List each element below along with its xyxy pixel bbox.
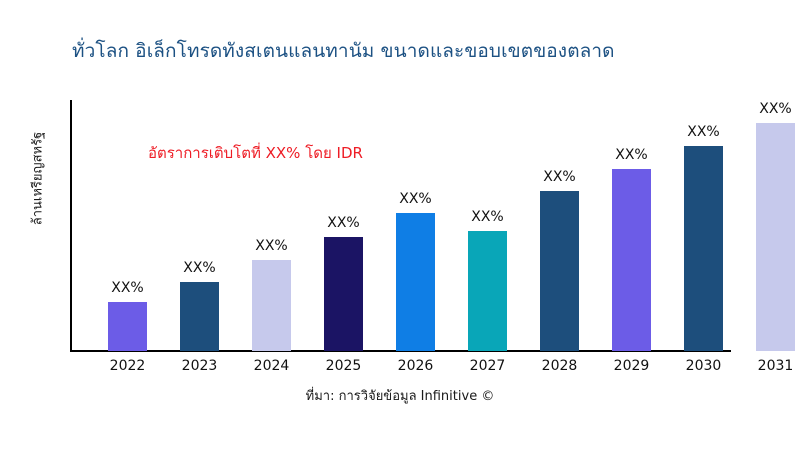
x-tick-label-2030: 2030 xyxy=(669,358,739,374)
x-tick-label-2028: 2028 xyxy=(525,358,595,374)
x-tick-label-2023: 2023 xyxy=(165,358,235,374)
bar-2029[interactable] xyxy=(612,169,651,351)
chart-container: ทั่วโลก อิเล็กโทรดทังสเตนแลนทานัม ขนาดแล… xyxy=(0,0,800,450)
bar-2028[interactable] xyxy=(540,191,579,351)
bar-value-label-2026: XX% xyxy=(381,191,451,207)
x-tick-label-2026: 2026 xyxy=(381,358,451,374)
x-tick-label-2022: 2022 xyxy=(93,358,163,374)
bar-2030[interactable] xyxy=(684,146,723,351)
x-tick-label-2029: 2029 xyxy=(597,358,667,374)
bar-2022[interactable] xyxy=(108,302,147,351)
bar-2026[interactable] xyxy=(396,213,435,351)
source-note: ที่มา: การวิจัยข้อมูล Infinitive © xyxy=(0,385,800,406)
bar-2025[interactable] xyxy=(324,237,363,351)
bar-2027[interactable] xyxy=(468,231,507,351)
x-tick-label-2025: 2025 xyxy=(309,358,379,374)
plot-area: XX%2022XX%2023XX%2024XX%2025XX%2026XX%20… xyxy=(0,0,800,450)
bar-value-label-2030: XX% xyxy=(669,124,739,140)
bar-2031[interactable] xyxy=(756,123,795,351)
x-tick-label-2024: 2024 xyxy=(237,358,307,374)
x-tick-label-2027: 2027 xyxy=(453,358,523,374)
bar-2024[interactable] xyxy=(252,260,291,351)
bar-value-label-2029: XX% xyxy=(597,147,667,163)
bar-value-label-2024: XX% xyxy=(237,238,307,254)
bar-value-label-2028: XX% xyxy=(525,169,595,185)
bar-value-label-2027: XX% xyxy=(453,209,523,225)
bar-2023[interactable] xyxy=(180,282,219,351)
x-tick-label-2031: 2031 xyxy=(741,358,800,374)
bar-value-label-2022: XX% xyxy=(93,280,163,296)
bar-value-label-2025: XX% xyxy=(309,215,379,231)
bar-value-label-2031: XX% xyxy=(741,101,800,117)
bar-value-label-2023: XX% xyxy=(165,260,235,276)
